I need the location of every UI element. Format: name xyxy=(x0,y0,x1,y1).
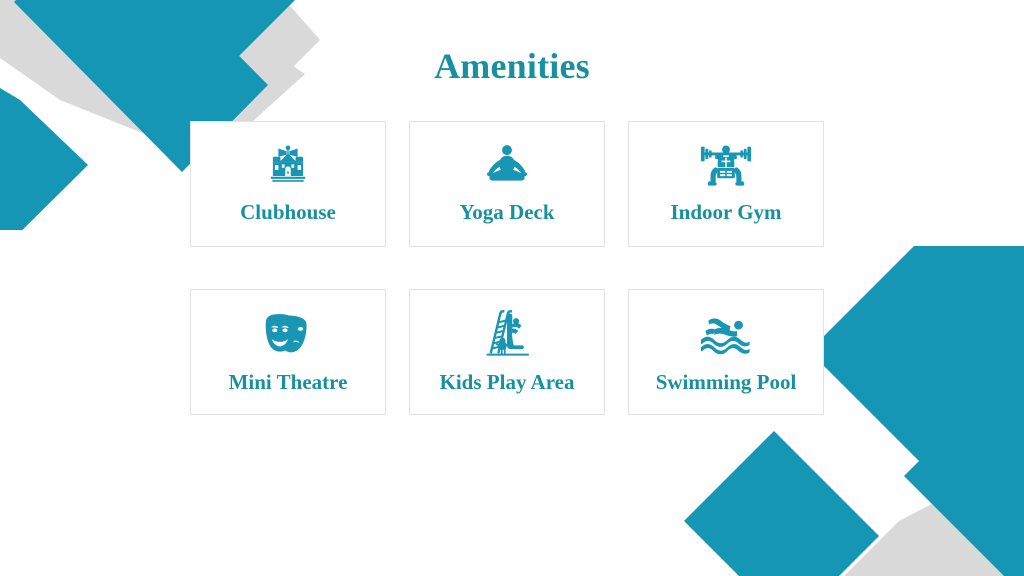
theatre-masks-icon xyxy=(263,298,313,370)
amenities-row-1: Clubhouse Yoga Deck xyxy=(190,121,824,247)
teal-diamond-bottom-right-2 xyxy=(904,386,1024,576)
amenity-label: Mini Theatre xyxy=(229,372,348,393)
page-title: Amenities xyxy=(0,45,1024,87)
bodybuilder-barbell-icon xyxy=(698,130,754,200)
amenity-label: Kids Play Area xyxy=(440,372,575,393)
amenity-card-swimming-pool[interactable]: Swimming Pool xyxy=(628,289,824,415)
amenity-card-kids-play-area[interactable]: Kids Play Area xyxy=(409,289,605,415)
amenity-card-yoga-deck[interactable]: Yoga Deck xyxy=(409,121,605,247)
gray-diamond-bottom-right-b xyxy=(814,461,1024,576)
amenities-row-2: Mini Theatre xyxy=(190,289,824,415)
swimmer-waves-icon xyxy=(698,298,754,370)
amenity-label: Clubhouse xyxy=(240,202,336,223)
slide-canvas: Amenities xyxy=(0,0,1024,576)
playground-slide-icon xyxy=(479,298,535,370)
gray-diamond-bottom-right xyxy=(934,246,1024,366)
amenity-label: Swimming Pool xyxy=(656,372,797,393)
clubhouse-icon xyxy=(266,130,310,200)
teal-diamond-bottom-small xyxy=(684,431,879,576)
amenity-label: Yoga Deck xyxy=(459,202,554,223)
amenity-card-clubhouse[interactable]: Clubhouse xyxy=(190,121,386,247)
amenity-card-indoor-gym[interactable]: Indoor Gym xyxy=(628,121,824,247)
amenity-label: Indoor Gym xyxy=(670,202,781,223)
lotus-meditation-icon xyxy=(484,130,530,200)
amenity-card-mini-theatre[interactable]: Mini Theatre xyxy=(190,289,386,415)
amenities-grid: Clubhouse Yoga Deck xyxy=(190,121,824,415)
teal-diamond-bottom-right xyxy=(809,246,1024,506)
